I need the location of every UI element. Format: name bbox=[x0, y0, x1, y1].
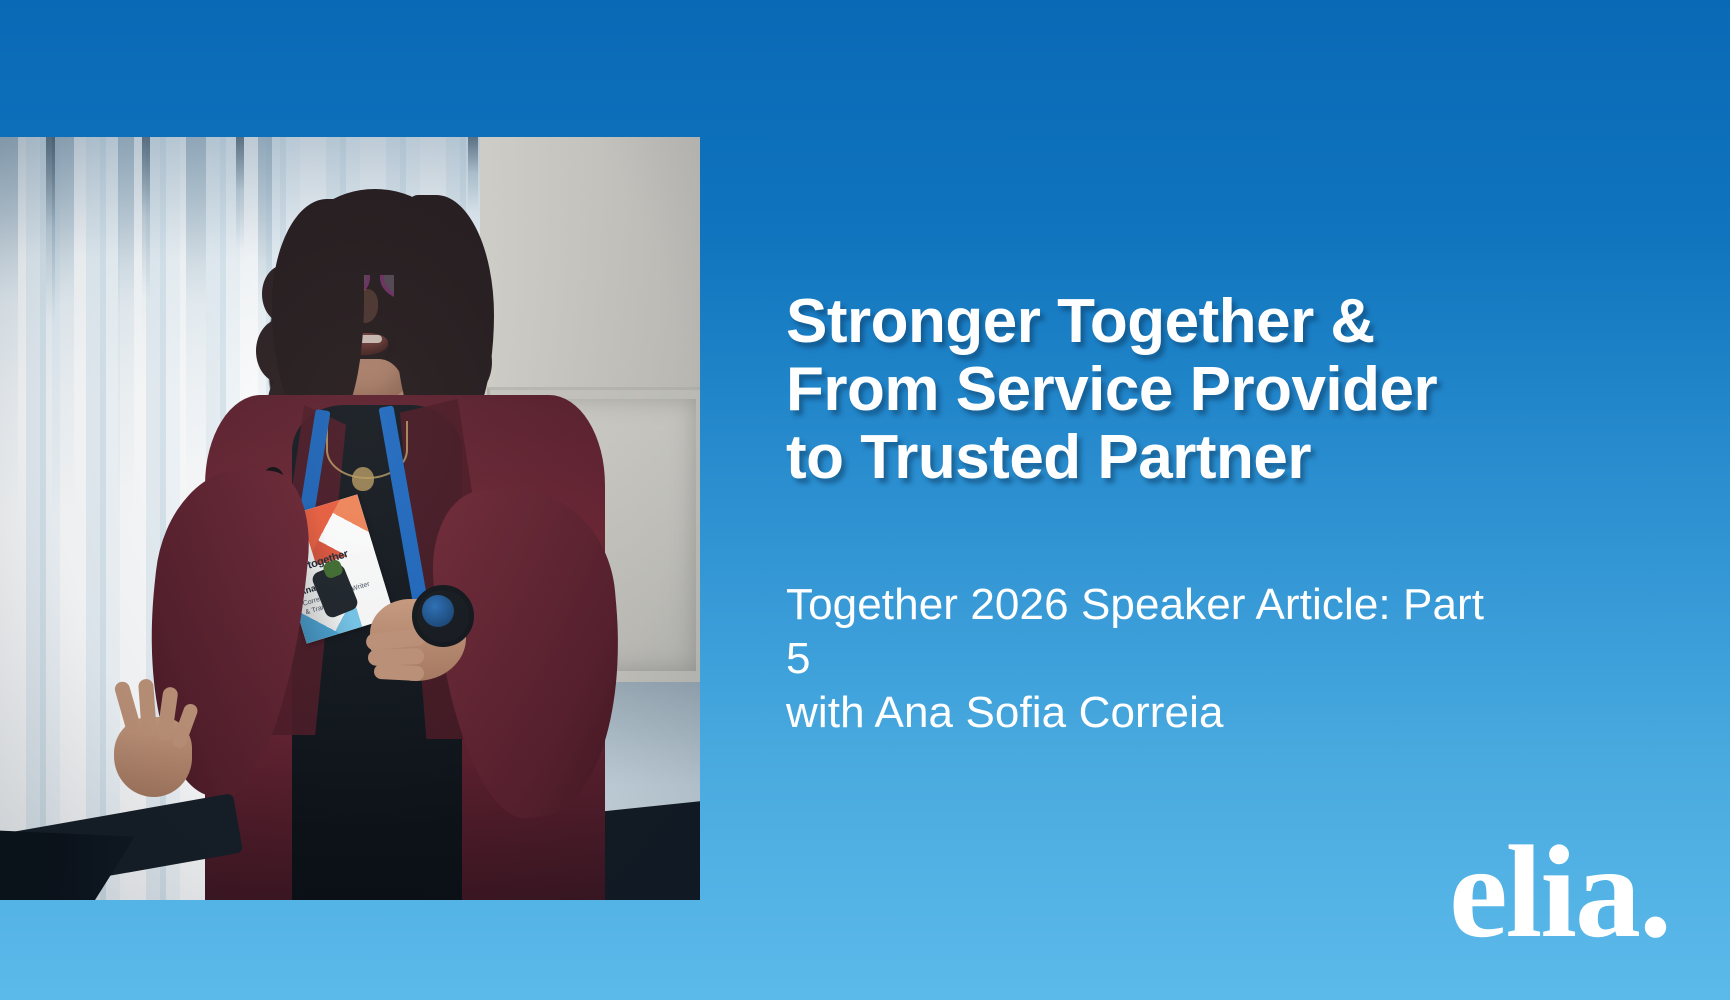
wristwatch-face bbox=[422, 595, 454, 627]
hand-left bbox=[98, 677, 208, 807]
finger bbox=[368, 648, 425, 666]
finger bbox=[138, 679, 157, 738]
finger bbox=[374, 664, 425, 682]
necklace-pendant bbox=[352, 467, 374, 491]
speaker-figure: together Ana Sofia Correia Medical Write… bbox=[0, 137, 700, 900]
page-subtitle: Together 2026 Speaker Article: Part 5 wi… bbox=[786, 578, 1486, 740]
elia-logo: elia. bbox=[1449, 832, 1670, 952]
speaker-photo: together Ana Sofia Correia Medical Write… bbox=[0, 137, 700, 900]
finger bbox=[113, 680, 142, 734]
page-title: Stronger Together & From Service Provide… bbox=[786, 288, 1506, 492]
speaker-article-banner: together Ana Sofia Correia Medical Write… bbox=[0, 0, 1730, 1000]
text-content: Stronger Together & From Service Provide… bbox=[786, 0, 1546, 1000]
